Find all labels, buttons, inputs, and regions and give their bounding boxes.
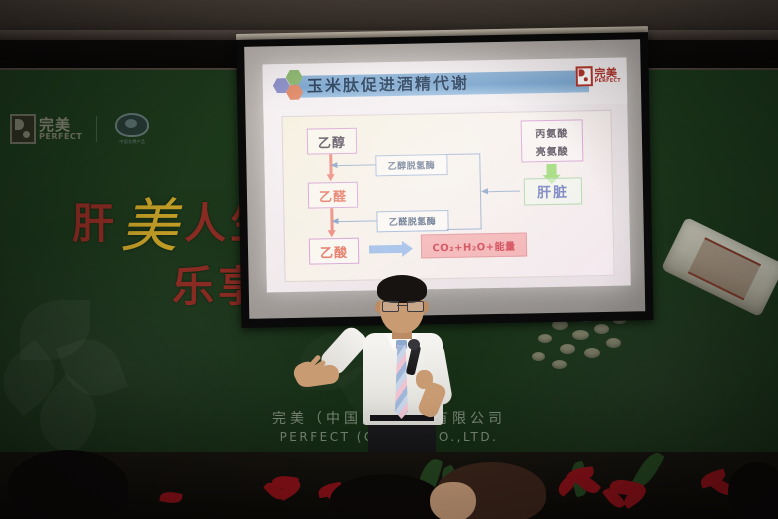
diagram-enzyme-adh: 乙醇脱氢酶 [375,154,447,176]
bracket-top [445,153,480,155]
arrow-amino-to-liver [546,164,556,176]
tablet [552,360,567,369]
award-emblem-icon: 中国名牌产品 [111,112,153,146]
presentation-slide: 玉米肽促进酒精代谢 完美 PERFECT 乙醇 乙醛 乙酸 [262,58,630,293]
speaker-figure [330,275,480,475]
finger [314,374,326,379]
emblem-caption: 中国名牌产品 [119,139,145,145]
metabolism-diagram: 乙醇 乙醛 乙酸 乙醇脱氢酶 乙醛脱氢酶 [281,110,614,282]
diagram-node-acetic-acid: 乙酸 [309,238,359,265]
logo-divider [96,116,97,142]
speaker-necktie [395,345,408,419]
audience-head [330,474,442,519]
glasses-lens-right [407,301,424,312]
slide-brand-logo: 完美 PERFECT [575,66,621,87]
diagram-result-box: CO₂+H₂O+能量 [421,232,527,258]
slogan-char-gold: 美 [120,202,178,251]
diagram-enzyme-aldh: 乙醛脱氢酶 [376,210,448,232]
speaker-left-forearm [298,364,340,388]
slide-logo-en: PERFECT [595,79,621,85]
connector-aldh-to-chain [338,220,376,222]
diagram-node-liver: 肝脏 [524,177,583,205]
amino-acid-leucine: 亮氨酸 [536,142,569,158]
microphone-head-icon [408,339,420,350]
emblem-badge-icon [115,113,149,137]
tablet [560,344,575,354]
presentation-photo-scene: 完美 PERFECT 中国名牌产品 肝 美 人 生 乐 享 [0,0,778,519]
backdrop-logo-row: 完美 PERFECT 中国名牌产品 [10,112,153,146]
tablet [538,334,552,343]
tablet [594,324,609,334]
glasses-bridge [397,305,407,306]
diagram-node-acetaldehyde: 乙醛 [308,182,358,209]
speaker-right-hand [416,370,433,389]
arrow-to-result [369,245,403,254]
perfect-logo-cn: 完美 [39,118,82,133]
audience-head [8,450,128,519]
perfect-logo-en: PERFECT [39,133,82,141]
tablet [584,348,600,358]
perfect-mark-icon [575,66,592,86]
audience-face [430,482,476,519]
tablet [606,338,621,348]
diagram-node-ethanol: 乙醇 [307,128,357,155]
glasses-lens-left [382,301,399,312]
connector-liver-to-bracket [488,191,520,193]
tablet [532,352,545,361]
diagram-amino-acid-box: 丙氨酸 亮氨酸 [521,119,584,162]
slogan-char: 肝 [72,190,114,251]
speaker-glasses-icon [382,301,422,311]
slide-title: 玉米肽促进酒精代谢 [307,74,469,97]
perfect-mark-icon [10,114,36,144]
perfect-logo: 完美 PERFECT [10,114,82,144]
audience-head [728,462,778,519]
amino-acid-alanine: 丙氨酸 [535,124,568,140]
tablet [572,330,589,340]
speaker-hair [377,275,427,303]
slide-header: 玉米肽促进酒精代谢 完美 PERFECT [262,58,627,111]
connector-adh-to-chain [337,164,375,166]
slogan-char: 人 [184,190,226,251]
slogan-char: 乐 [172,253,214,314]
bracket-bottom [447,228,482,230]
